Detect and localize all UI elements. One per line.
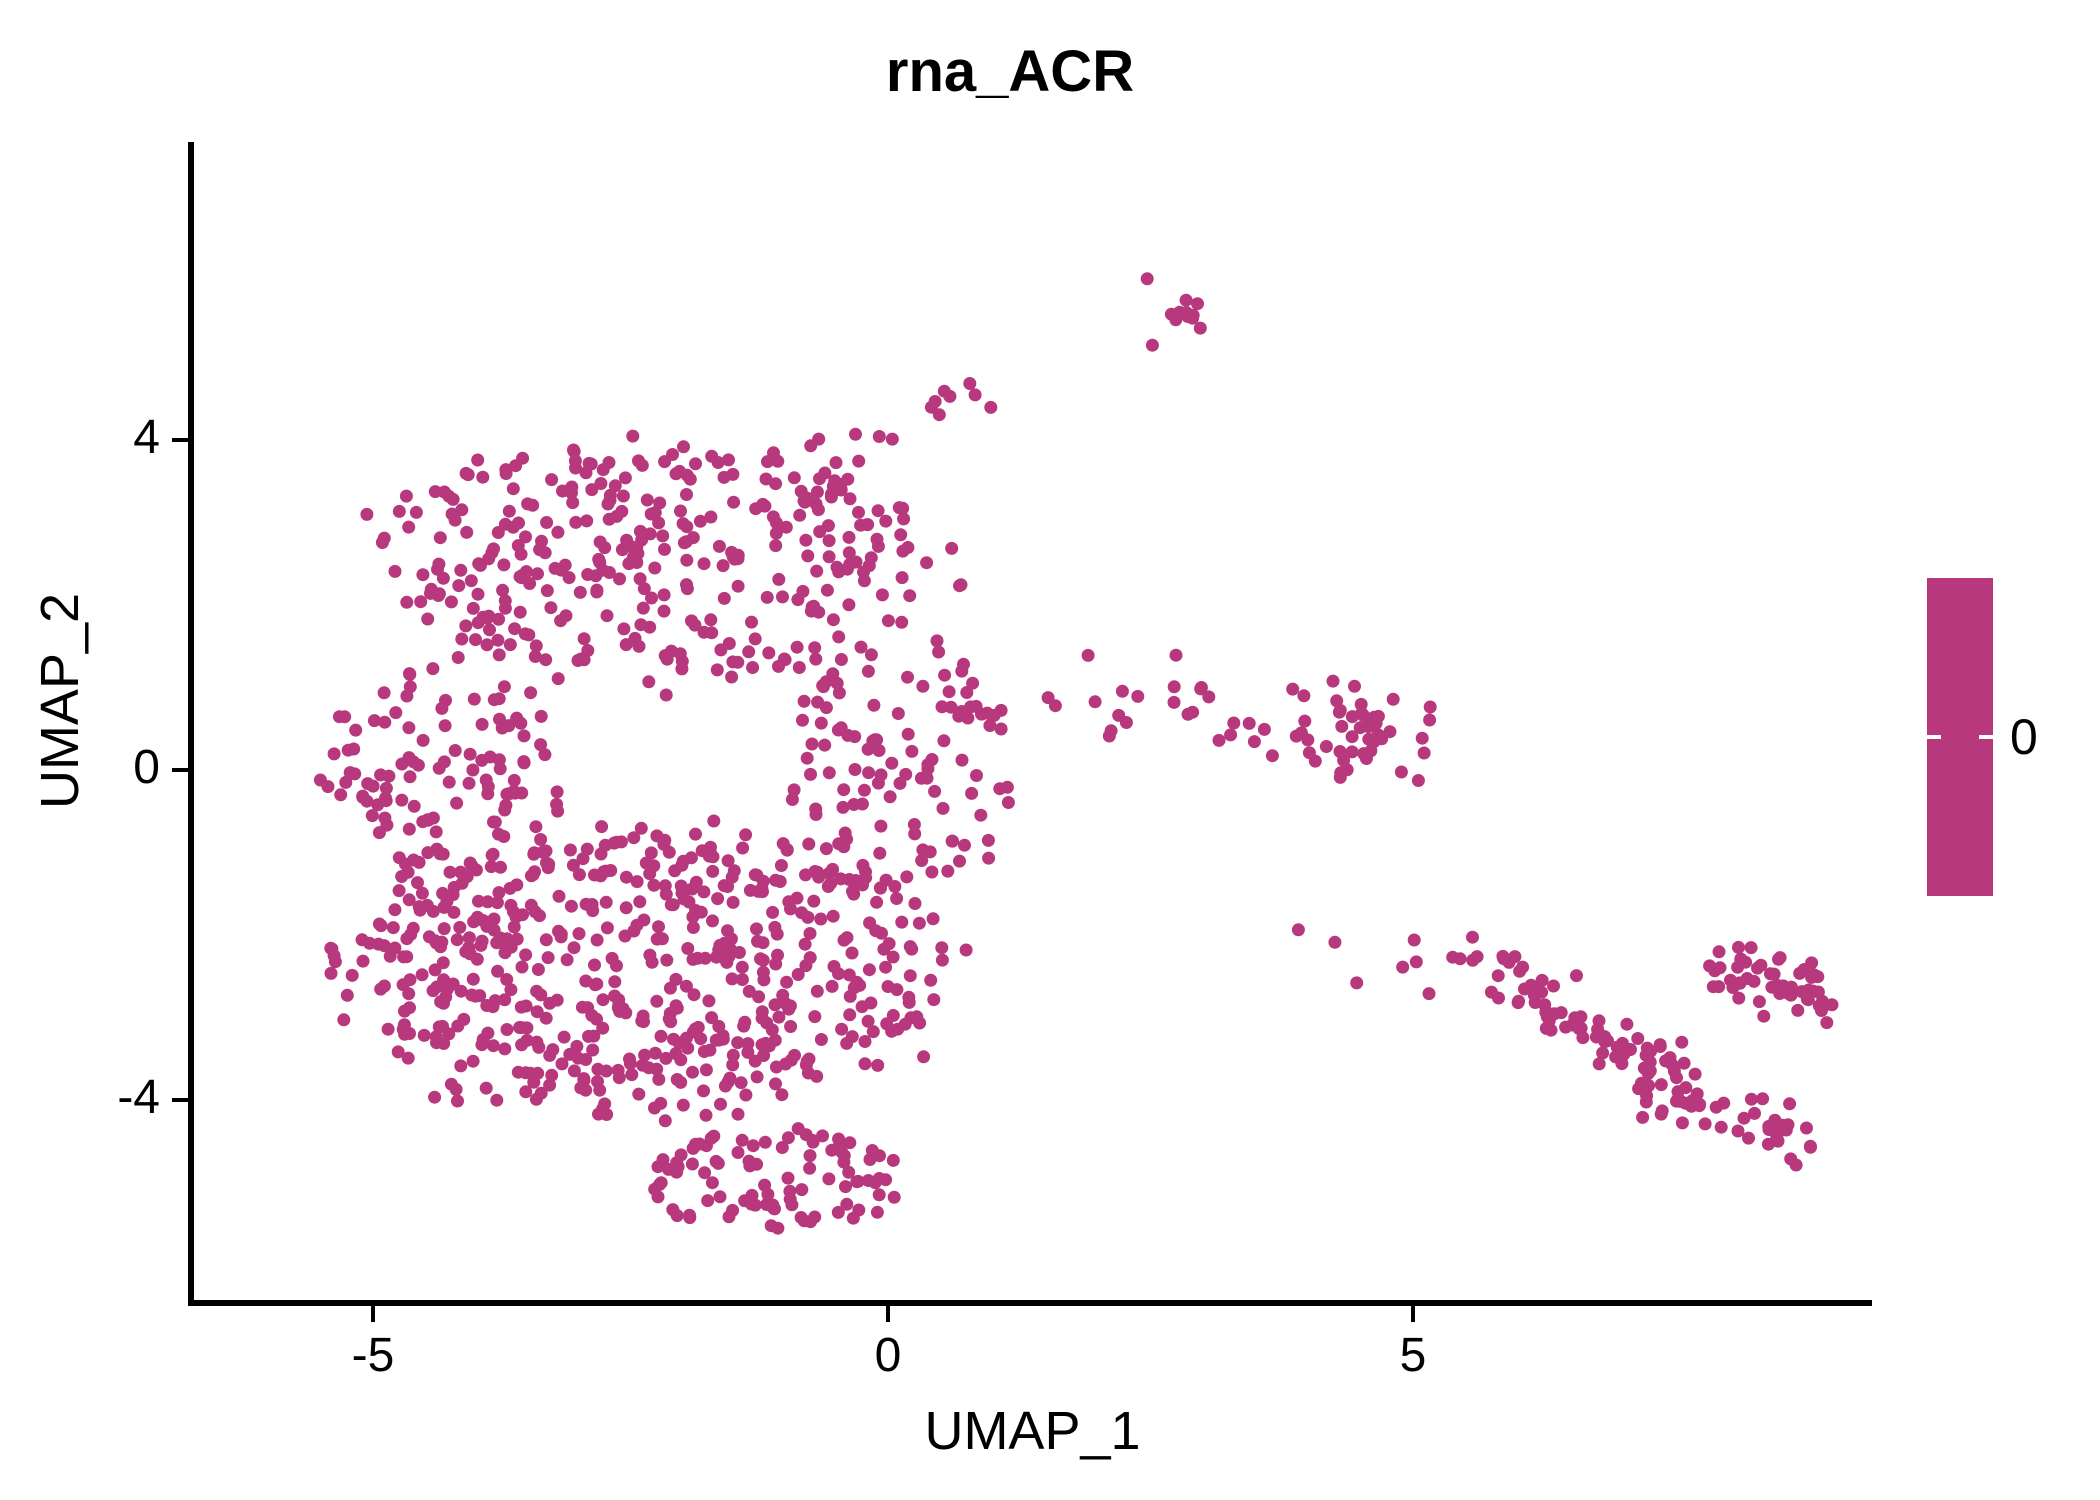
x-axis-label: UMAP_1 — [193, 1400, 1872, 1462]
colorbar-tick-mark-right — [1979, 735, 1993, 739]
y-tick-label: -4 — [0, 1070, 160, 1125]
x-tick-label: 0 — [808, 1328, 968, 1383]
x-tick-mark — [371, 1306, 375, 1322]
y-axis-line — [188, 142, 194, 1306]
y-tick-mark — [172, 768, 188, 772]
x-axis-line — [188, 1300, 1872, 1306]
x-tick-label: 5 — [1333, 1328, 1493, 1383]
x-tick-mark — [886, 1306, 890, 1322]
y-axis-label: UMAP_2 — [29, 421, 91, 981]
plot-panel — [193, 142, 1872, 1303]
colorbar-tick-label: 0 — [2010, 708, 2038, 766]
legend-colorbar[interactable] — [1927, 578, 1993, 896]
y-tick-mark — [172, 1098, 188, 1102]
chart-title: rna_ACR — [0, 38, 2020, 105]
x-tick-label: -5 — [293, 1328, 453, 1383]
colorbar-gradient — [1927, 578, 1993, 896]
x-tick-mark — [1411, 1306, 1415, 1322]
y-tick-mark — [172, 438, 188, 442]
umap-scatter-figure: rna_ACR -5 0 5 4 0 -4 UMAP_1 UMAP_2 0 — [0, 0, 2100, 1500]
scatter-point-layer — [193, 142, 1872, 1303]
colorbar-tick-mark-left — [1927, 735, 1941, 739]
